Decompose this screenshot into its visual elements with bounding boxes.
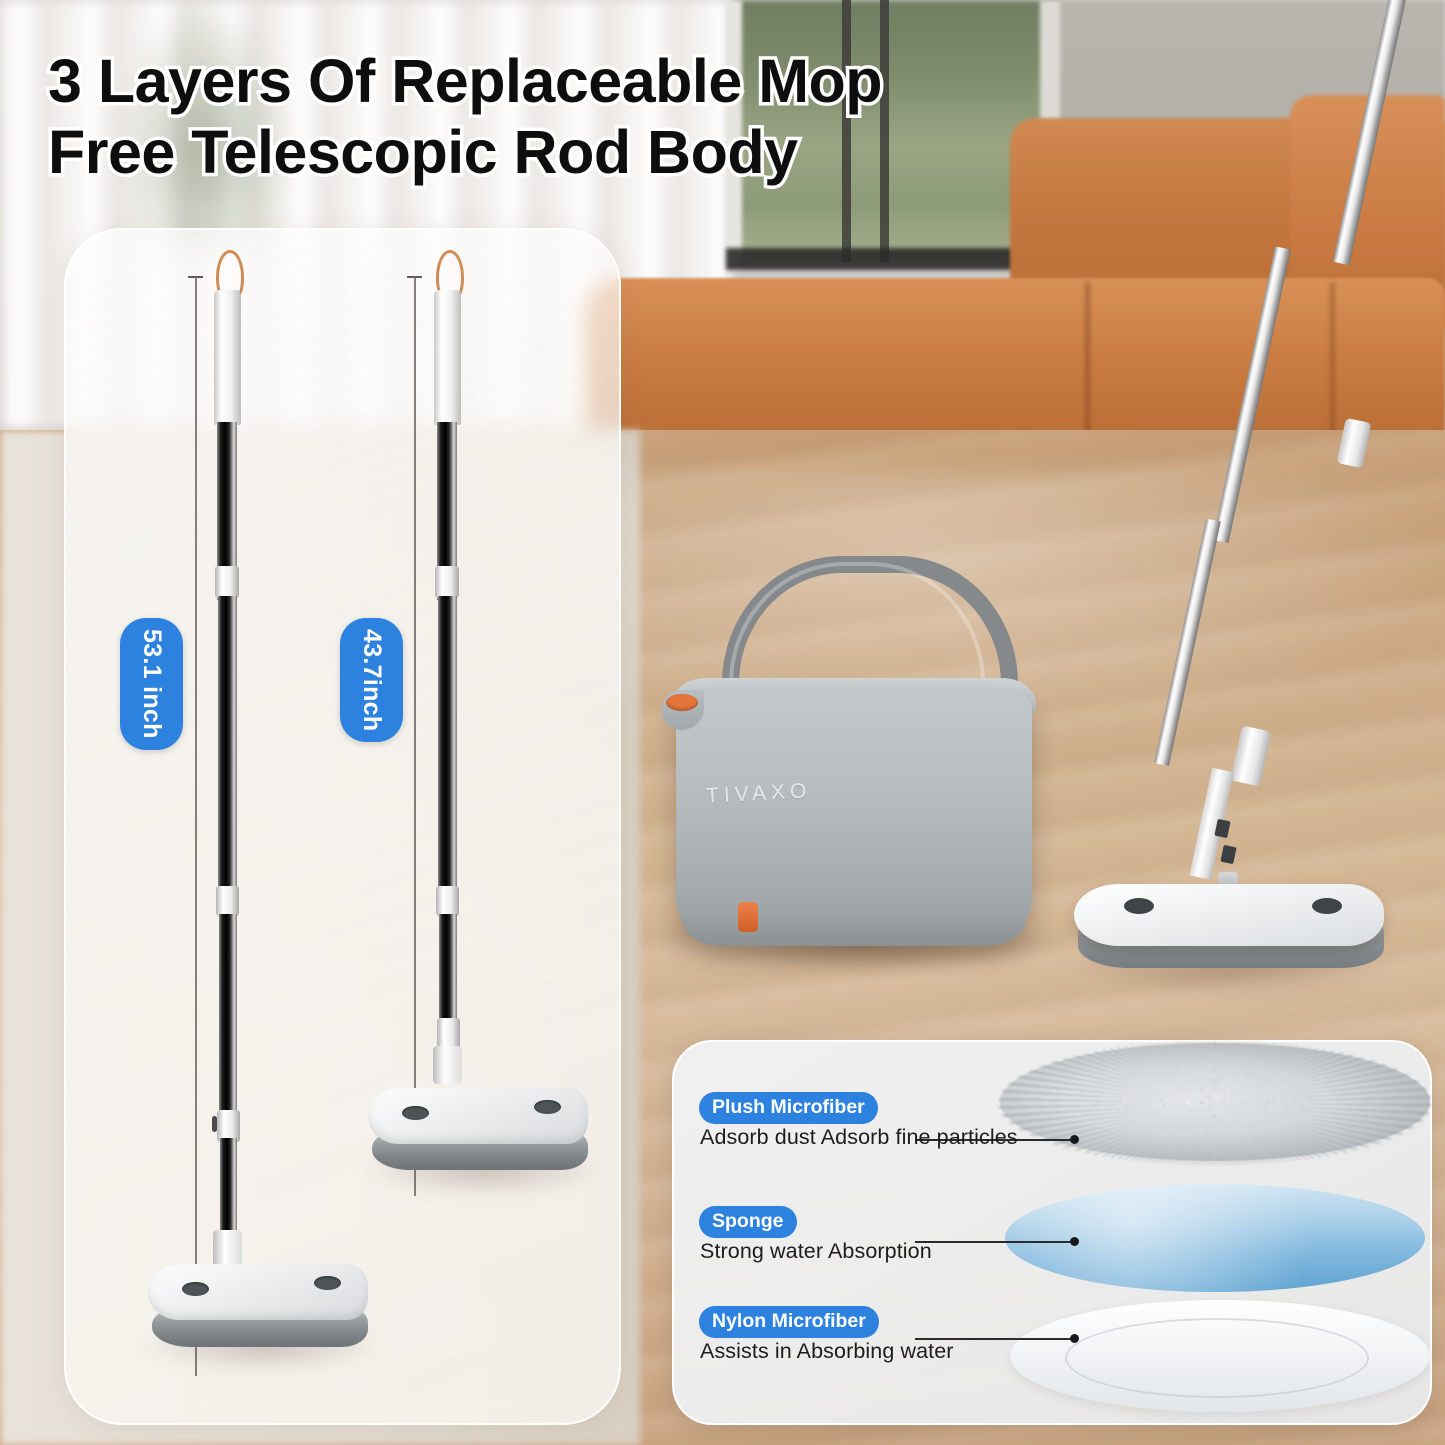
rod-segment-2 — [438, 596, 457, 896]
mop-plate-hole — [1124, 898, 1154, 914]
page-title: 3 Layers Of Replaceable Mop Free Telesco… — [48, 46, 1078, 188]
leader-dot-sponge — [1070, 1237, 1079, 1246]
bucket-base — [682, 918, 1026, 946]
leader-dot-plush — [1070, 1135, 1079, 1144]
rod-segment-3 — [439, 914, 457, 1024]
rod-collar-1 — [435, 566, 459, 598]
headline-line-2: Free Telescopic Rod Body — [48, 117, 1078, 188]
mop-swivel-joint — [213, 1230, 242, 1268]
mop-plate-right — [1074, 884, 1384, 946]
measure-line-right — [414, 276, 416, 1196]
headline-line-1: 3 Layers Of Replaceable Mop — [48, 46, 1078, 117]
rod-collar-2 — [436, 886, 459, 916]
mop-plate-hole — [1312, 898, 1342, 914]
layer-badge-sponge: Sponge — [699, 1206, 797, 1238]
rod-collar-2 — [216, 886, 239, 916]
rod-collar-1 — [215, 566, 239, 598]
layer-sponge-highlight — [1005, 1184, 1425, 1292]
size-badge-retracted: 43.7inch — [340, 618, 403, 742]
mop-swivel-joint — [433, 1046, 462, 1084]
mop-plate-hole — [402, 1106, 429, 1120]
rod-segment-3 — [219, 914, 237, 1119]
product-marketing-image: TIVAXO 3 Layers Of Replaceable Mop Free … — [0, 0, 1445, 1445]
layer-badge-plush: Plush Microfiber — [699, 1092, 878, 1124]
rod-handle-grip — [214, 290, 241, 425]
measure-line-left — [195, 276, 197, 1376]
leader-line-sponge — [915, 1241, 1075, 1243]
bucket-spout-ring — [666, 694, 698, 711]
layer-desc-sponge: Strong water Absorption — [700, 1239, 932, 1264]
layer-desc-plush: Adsorb dust Adsorb fine particles — [700, 1125, 1018, 1150]
rod-lock-notch — [212, 1116, 217, 1132]
layer-plush-texture — [998, 1041, 1432, 1165]
layer-nylon-ring — [1065, 1318, 1369, 1398]
layer-desc-nylon: Assists in Absorbing water — [700, 1339, 954, 1364]
rod-handle-grip — [434, 290, 461, 425]
size-badge-extended: 53.1 inch — [120, 618, 183, 750]
telescopic-rod-panel: 53.1 inch 43.7inch — [64, 228, 621, 1425]
leader-dot-nylon — [1070, 1334, 1079, 1343]
bucket-drain-plug — [738, 902, 758, 932]
mop-plate-hole — [314, 1276, 341, 1290]
mop-plate — [368, 1088, 588, 1144]
layer-badge-nylon: Nylon Microfiber — [699, 1306, 879, 1338]
rod-segment-4 — [220, 1138, 237, 1238]
mop-plate — [148, 1264, 368, 1320]
mop-plate-hole — [534, 1100, 561, 1114]
bucket-body — [676, 690, 1032, 940]
mop-plate-hole — [182, 1282, 209, 1296]
rod-segment-2 — [218, 596, 237, 896]
